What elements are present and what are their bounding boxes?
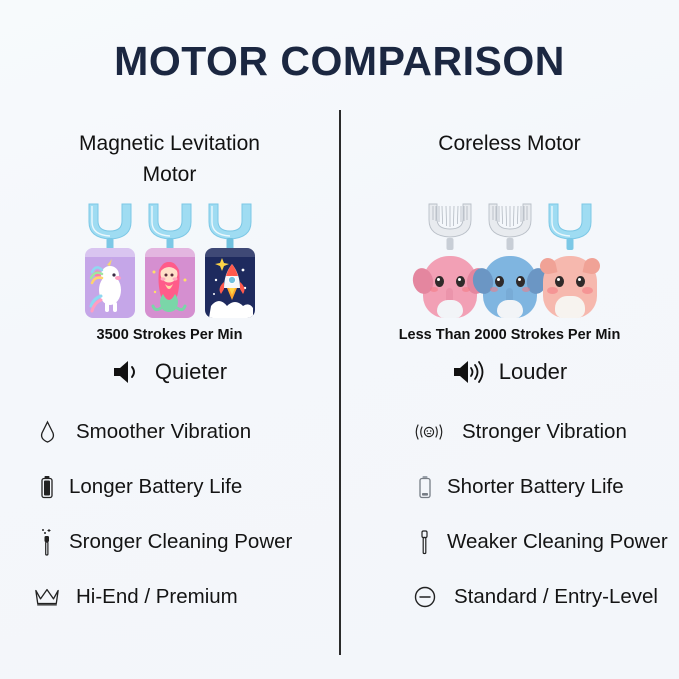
- mermaid-art: [145, 248, 195, 318]
- page-title: MOTOR COMPARISON: [0, 38, 679, 85]
- column-heading-right-line1: Coreless Motor: [340, 128, 679, 159]
- blue-elephant-toothbrush: [482, 196, 538, 318]
- vibration-waves-icon: [412, 421, 446, 443]
- brush-neck: [566, 238, 573, 250]
- column-heading-left: Magnetic Levitation Motor: [0, 128, 339, 190]
- brush-head-icon: [425, 202, 475, 242]
- feature-label: Stronger Vibration: [462, 420, 627, 444]
- toothbrush-sparkle-icon: [34, 528, 60, 556]
- column-coreless: Coreless Motor: [340, 128, 679, 624]
- feature-label: Smoother Vibration: [76, 420, 251, 444]
- feature-label: Weaker Cleaning Power: [447, 530, 668, 554]
- handle-body: [85, 248, 135, 318]
- speaker-quiet-icon: [112, 359, 142, 385]
- column-magnetic-levitation: Magnetic Levitation Motor: [0, 128, 339, 624]
- speaker-loud-icon: [452, 359, 486, 385]
- brush-head-icon: [145, 202, 195, 242]
- feature-label: Standard / Entry-Level: [454, 585, 658, 609]
- product-images-right: [340, 190, 679, 318]
- rocket-art: [205, 248, 255, 318]
- animal-body: [543, 256, 597, 318]
- animal-body: [483, 256, 537, 318]
- pink-elephant-toothbrush: [422, 196, 478, 318]
- pink-cat-toothbrush: [542, 196, 598, 318]
- column-heading-left-line2: Motor: [0, 159, 339, 190]
- crown-icon: [34, 586, 60, 608]
- strokes-per-min-right: Less Than 2000 Strokes Per Min: [340, 327, 679, 343]
- unicorn-toothbrush: [82, 196, 138, 318]
- feature-label: Sronger Cleaning Power: [69, 530, 292, 554]
- feature-label: Hi-End / Premium: [76, 585, 238, 609]
- sound-label-right: Louder: [499, 359, 568, 385]
- mermaid-toothbrush: [142, 196, 198, 318]
- feature-row: Sronger Cleaning Power: [0, 514, 339, 569]
- sound-row-right: Louder: [340, 357, 679, 387]
- feature-list-right: Stronger Vibration Shorter Battery Life: [340, 404, 679, 624]
- sound-row-left: Quieter: [0, 357, 339, 387]
- brush-head-icon: [545, 202, 595, 242]
- handle-body: [205, 248, 255, 318]
- feature-row: Smoother Vibration: [0, 404, 339, 459]
- brush-neck: [446, 238, 453, 250]
- feature-row: Stronger Vibration: [340, 404, 679, 459]
- brush-head-icon: [85, 202, 135, 242]
- feature-row: Shorter Battery Life: [340, 459, 679, 514]
- toothbrush-plain-icon: [412, 528, 438, 556]
- strokes-per-min-left: 3500 Strokes Per Min: [0, 327, 339, 343]
- brush-head-icon: [485, 202, 535, 242]
- battery-full-icon: [34, 475, 60, 499]
- battery-low-icon: [412, 475, 438, 499]
- animal-body: [423, 256, 477, 318]
- column-heading-right: Coreless Motor: [340, 128, 679, 190]
- feature-label: Longer Battery Life: [69, 475, 242, 499]
- feature-row: Weaker Cleaning Power: [340, 514, 679, 569]
- column-heading-left-line1: Magnetic Levitation: [0, 128, 339, 159]
- water-drop-icon: [34, 420, 60, 444]
- feature-label: Shorter Battery Life: [447, 475, 624, 499]
- sound-label-left: Quieter: [155, 359, 227, 385]
- brush-neck: [506, 238, 513, 250]
- rocket-toothbrush: [202, 196, 258, 318]
- circle-minus-icon: [412, 585, 438, 609]
- product-images-left: [0, 190, 339, 318]
- motor-comparison-infographic: MOTOR COMPARISON Magnetic Levitation Mot…: [0, 0, 679, 679]
- unicorn-art: [85, 248, 135, 318]
- handle-body: [145, 248, 195, 318]
- feature-list-left: Smoother Vibration Longer Battery Life: [0, 404, 339, 624]
- feature-row: Longer Battery Life: [0, 459, 339, 514]
- feature-row: Standard / Entry-Level: [340, 569, 679, 624]
- feature-row: Hi-End / Premium: [0, 569, 339, 624]
- brush-head-icon: [205, 202, 255, 242]
